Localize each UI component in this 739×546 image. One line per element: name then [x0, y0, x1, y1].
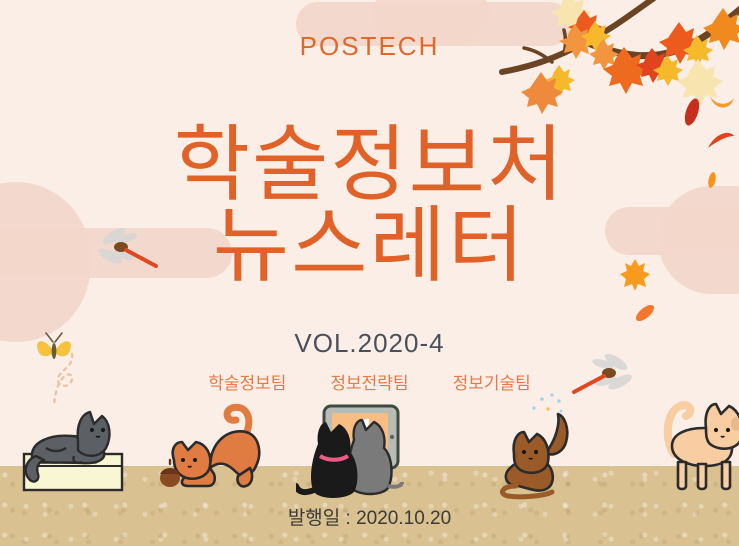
team-item-0: 학술정보팀 [208, 369, 286, 394]
title-line-2: 뉴스레터 [0, 205, 739, 286]
team-item-2: 정보기술팀 [453, 369, 531, 394]
team-item-1: 정보전략팀 [330, 369, 408, 394]
page-title: POSTECH [0, 31, 739, 62]
brown-cat-pawing [496, 408, 586, 500]
falling-leaf-crescent-orange [708, 92, 736, 116]
newsletter-cover: POSTECH 학술정보처 뉴스레터 VOL.2020-4 학술정보팀 정보전략… [0, 0, 739, 546]
cream-cat-standing [652, 394, 739, 498]
volume-label: VOL.2020-4 [0, 328, 739, 359]
publish-date: 발행일 : 2020.10.20 [0, 503, 739, 530]
cats-watching-screen [296, 404, 414, 500]
falling-leaf-ellipse-orange [632, 300, 658, 326]
gray-cat-on-box [16, 402, 136, 498]
team-list: 학술정보팀 정보전략팀 정보기술팀 [0, 369, 739, 394]
title-line-1: 학술정보처 [174, 118, 566, 211]
orange-cat-stretching [158, 398, 268, 498]
newsletter-title: 학술정보처 뉴스레터 [0, 124, 739, 287]
